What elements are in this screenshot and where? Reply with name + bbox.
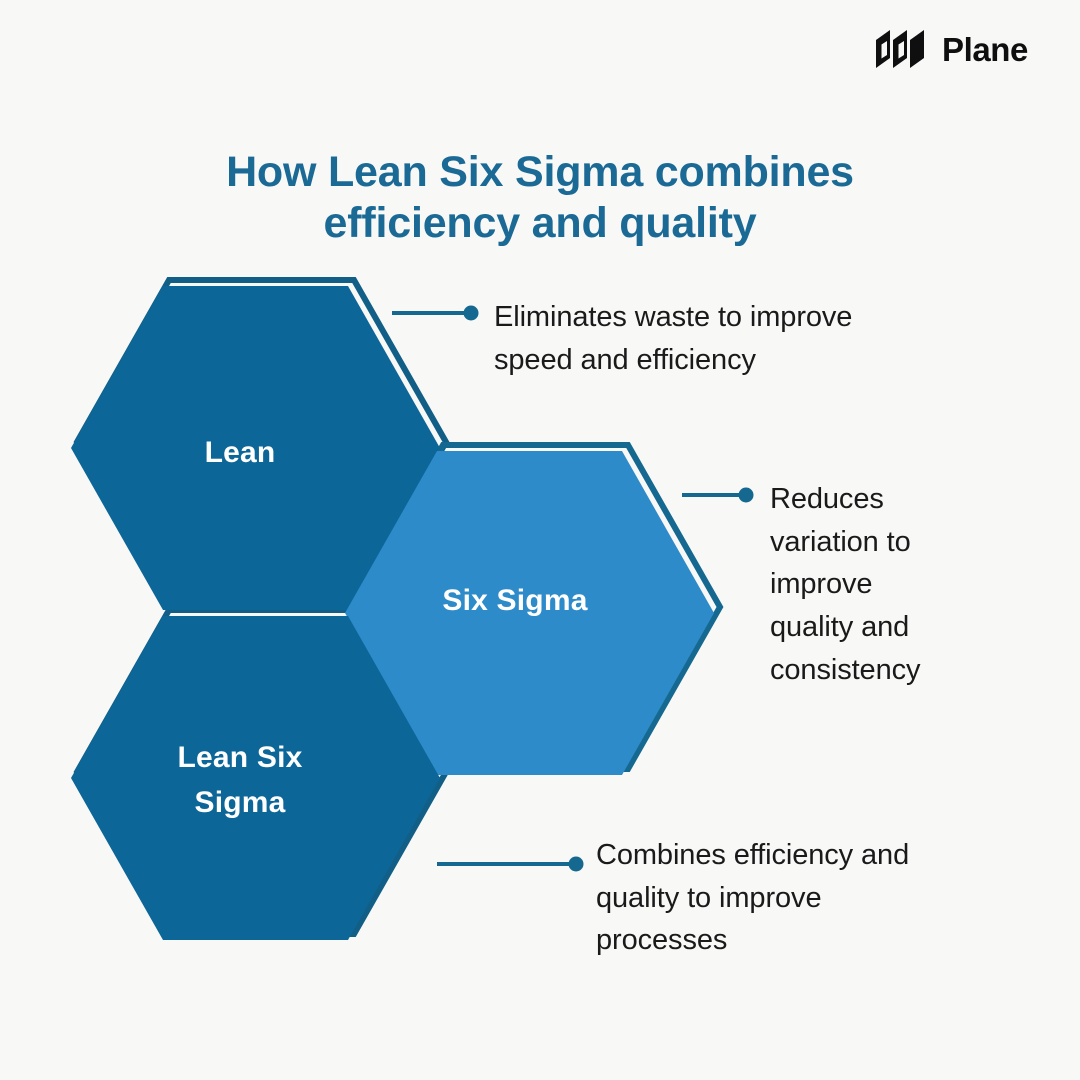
callout-text-lean-line-2: speed and efficiency xyxy=(494,339,914,382)
callout-text-lean-line-1: Eliminates waste to improve xyxy=(494,296,914,339)
connector-six-sigma xyxy=(682,488,754,503)
connector-lean xyxy=(392,306,479,321)
connector-lean-six-sigma xyxy=(437,857,584,872)
callout-text-lean-six-sigma-line-1: Combines efficiency and xyxy=(596,834,976,877)
callout-text-six-sigma-line-2: variation to xyxy=(770,521,965,564)
callout-text-six-sigma-line-3: improve xyxy=(770,563,965,606)
hexagon-diagram: Lean Six Sigma Lean Six Sigma Eliminates… xyxy=(0,0,1080,1080)
callout-text-lean-six-sigma-line-3: processes xyxy=(596,919,976,962)
callout-text-lean-six-sigma-line-2: quality to improve xyxy=(596,877,976,920)
callout-text-six-sigma-line-5: consistency xyxy=(770,649,965,692)
callout-text-six-sigma-line-1: Reduces xyxy=(770,478,965,521)
callout-text-six-sigma: Reduces variation to improve quality and… xyxy=(770,478,965,691)
callout-text-six-sigma-line-4: quality and xyxy=(770,606,965,649)
callout-text-lean: Eliminates waste to improve speed and ef… xyxy=(494,296,914,381)
callout-text-lean-six-sigma: Combines efficiency and quality to impro… xyxy=(596,834,976,962)
